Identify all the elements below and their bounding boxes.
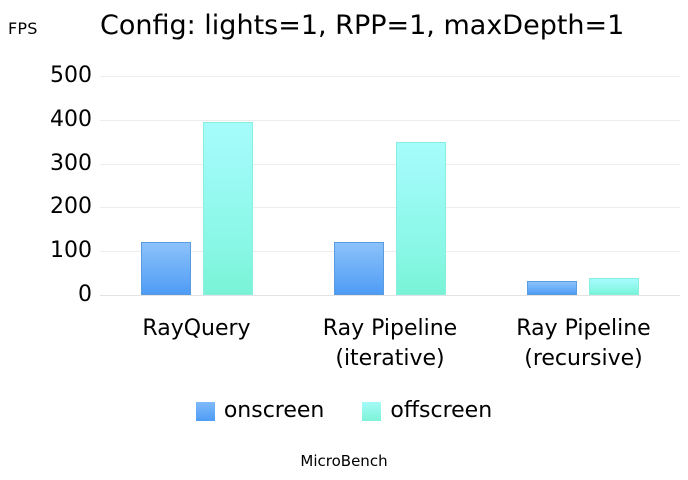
y-tick-100: 100 <box>8 240 92 262</box>
category-label-line: RayQuery <box>100 314 293 344</box>
legend-item-offscreen[interactable]: offscreen <box>362 400 492 422</box>
bar-ray-pipeline-recursive-onscreen <box>527 281 577 295</box>
y-tick-400: 400 <box>8 109 92 131</box>
y-axis-unit-label: FPS <box>8 20 38 38</box>
x-axis-category-labels: RayQuery Ray Pipeline (iterative) Ray Pi… <box>100 300 680 386</box>
category-label-rayquery: RayQuery <box>100 314 293 344</box>
legend-label-offscreen: offscreen <box>390 400 492 422</box>
chart-title: Config: lights=1, RPP=1, maxDepth=1 <box>100 9 680 43</box>
bar-ray-pipeline-iterative-onscreen <box>334 242 384 295</box>
bar-chart: FPS Config: lights=1, RPP=1, maxDepth=1 … <box>0 0 688 480</box>
category-label-line: (recursive) <box>487 344 680 374</box>
gridline-0-baseline <box>100 295 680 296</box>
x-axis-title: MicroBench <box>0 452 688 470</box>
legend-swatch-icon-offscreen <box>362 402 381 421</box>
bar-ray-pipeline-recursive-offscreen <box>589 278 639 295</box>
category-label-ray-pipeline-recursive: Ray Pipeline (recursive) <box>487 314 680 374</box>
bars-layer <box>100 76 680 295</box>
category-label-line: Ray Pipeline <box>487 314 680 344</box>
category-label-ray-pipeline-iterative: Ray Pipeline (iterative) <box>293 314 487 374</box>
y-axis-tick-labels: 500 400 300 200 100 0 <box>0 76 92 295</box>
category-label-line: (iterative) <box>293 344 487 374</box>
legend-item-onscreen[interactable]: onscreen <box>196 400 325 422</box>
category-label-line: Ray Pipeline <box>293 314 487 344</box>
bar-ray-pipeline-iterative-offscreen <box>396 142 446 295</box>
y-tick-300: 300 <box>8 153 92 175</box>
legend-label-onscreen: onscreen <box>224 400 325 422</box>
y-tick-200: 200 <box>8 196 92 218</box>
chart-legend: onscreen offscreen <box>0 400 688 422</box>
legend-swatch-icon-onscreen <box>196 402 215 421</box>
bar-rayquery-onscreen <box>141 242 191 295</box>
bar-rayquery-offscreen <box>203 122 253 295</box>
y-tick-500: 500 <box>8 65 92 87</box>
y-tick-0: 0 <box>8 284 92 306</box>
